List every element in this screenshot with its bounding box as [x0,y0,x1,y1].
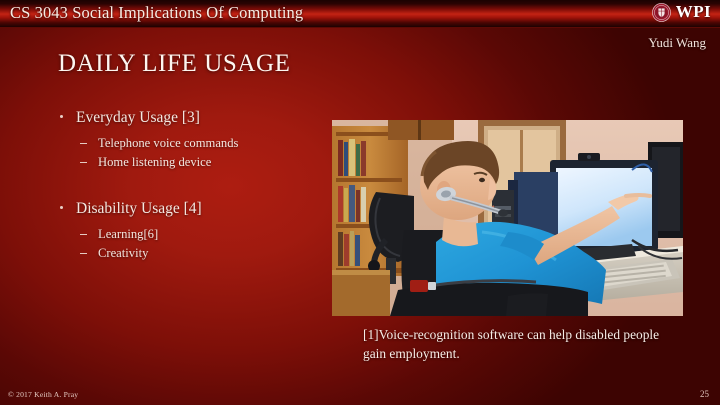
bullet-dash-icon [80,253,87,254]
bullet-dash-icon [80,234,87,235]
bullet-dash-icon [80,162,87,163]
page-title: DAILY LIFE USAGE [58,50,291,78]
slide-canvas: CS 3043 Social Implications Of Computing… [0,0,720,405]
bullet-dash-icon [80,143,87,144]
sub-bullet-item: Home listening device [58,153,323,173]
sub-bullet-label: Telephone voice commands [98,136,238,150]
bullet-group: Everyday Usage [3] Telephone voice comma… [58,108,323,173]
image-caption: [1]Voice-recognition software can help d… [363,325,683,363]
bullet-item-disability-usage: Disability Usage [4] [58,199,323,220]
bullet-list: Everyday Usage [3] Telephone voice comma… [58,108,323,290]
page-number: 25 [700,389,709,399]
bullet-group: Disability Usage [4] Learning[6] Creativ… [58,199,323,264]
sub-bullet-item: Telephone voice commands [58,134,323,154]
course-title: CS 3043 Social Implications Of Computing [10,3,303,23]
bullet-dot-icon [60,206,63,209]
bullet-item-everyday-usage: Everyday Usage [3] [58,108,323,129]
bullet-dot-icon [60,115,63,118]
man-in-wheelchair-using-voice-recognition-computer-photo [332,120,683,316]
sub-bullet-item: Learning[6] [58,225,323,245]
sub-bullet-label: Home listening device [98,155,211,169]
slide-header-bar: CS 3043 Social Implications Of Computing… [0,0,720,28]
wpi-brand: WPI [652,2,711,22]
sub-bullet-label: Creativity [98,246,148,260]
slide-image [332,120,683,316]
author-name: Yudi Wang [648,35,706,51]
sub-bullet-label: Learning[6] [98,227,158,241]
bullet-label: Disability Usage [4] [76,200,202,217]
bullet-label: Everyday Usage [3] [76,109,200,126]
sub-bullet-item: Creativity [58,244,323,264]
copyright-notice: © 2017 Keith A. Pray [8,390,78,399]
wpi-seal-icon [652,3,671,22]
wpi-wordmark: WPI [676,2,711,22]
